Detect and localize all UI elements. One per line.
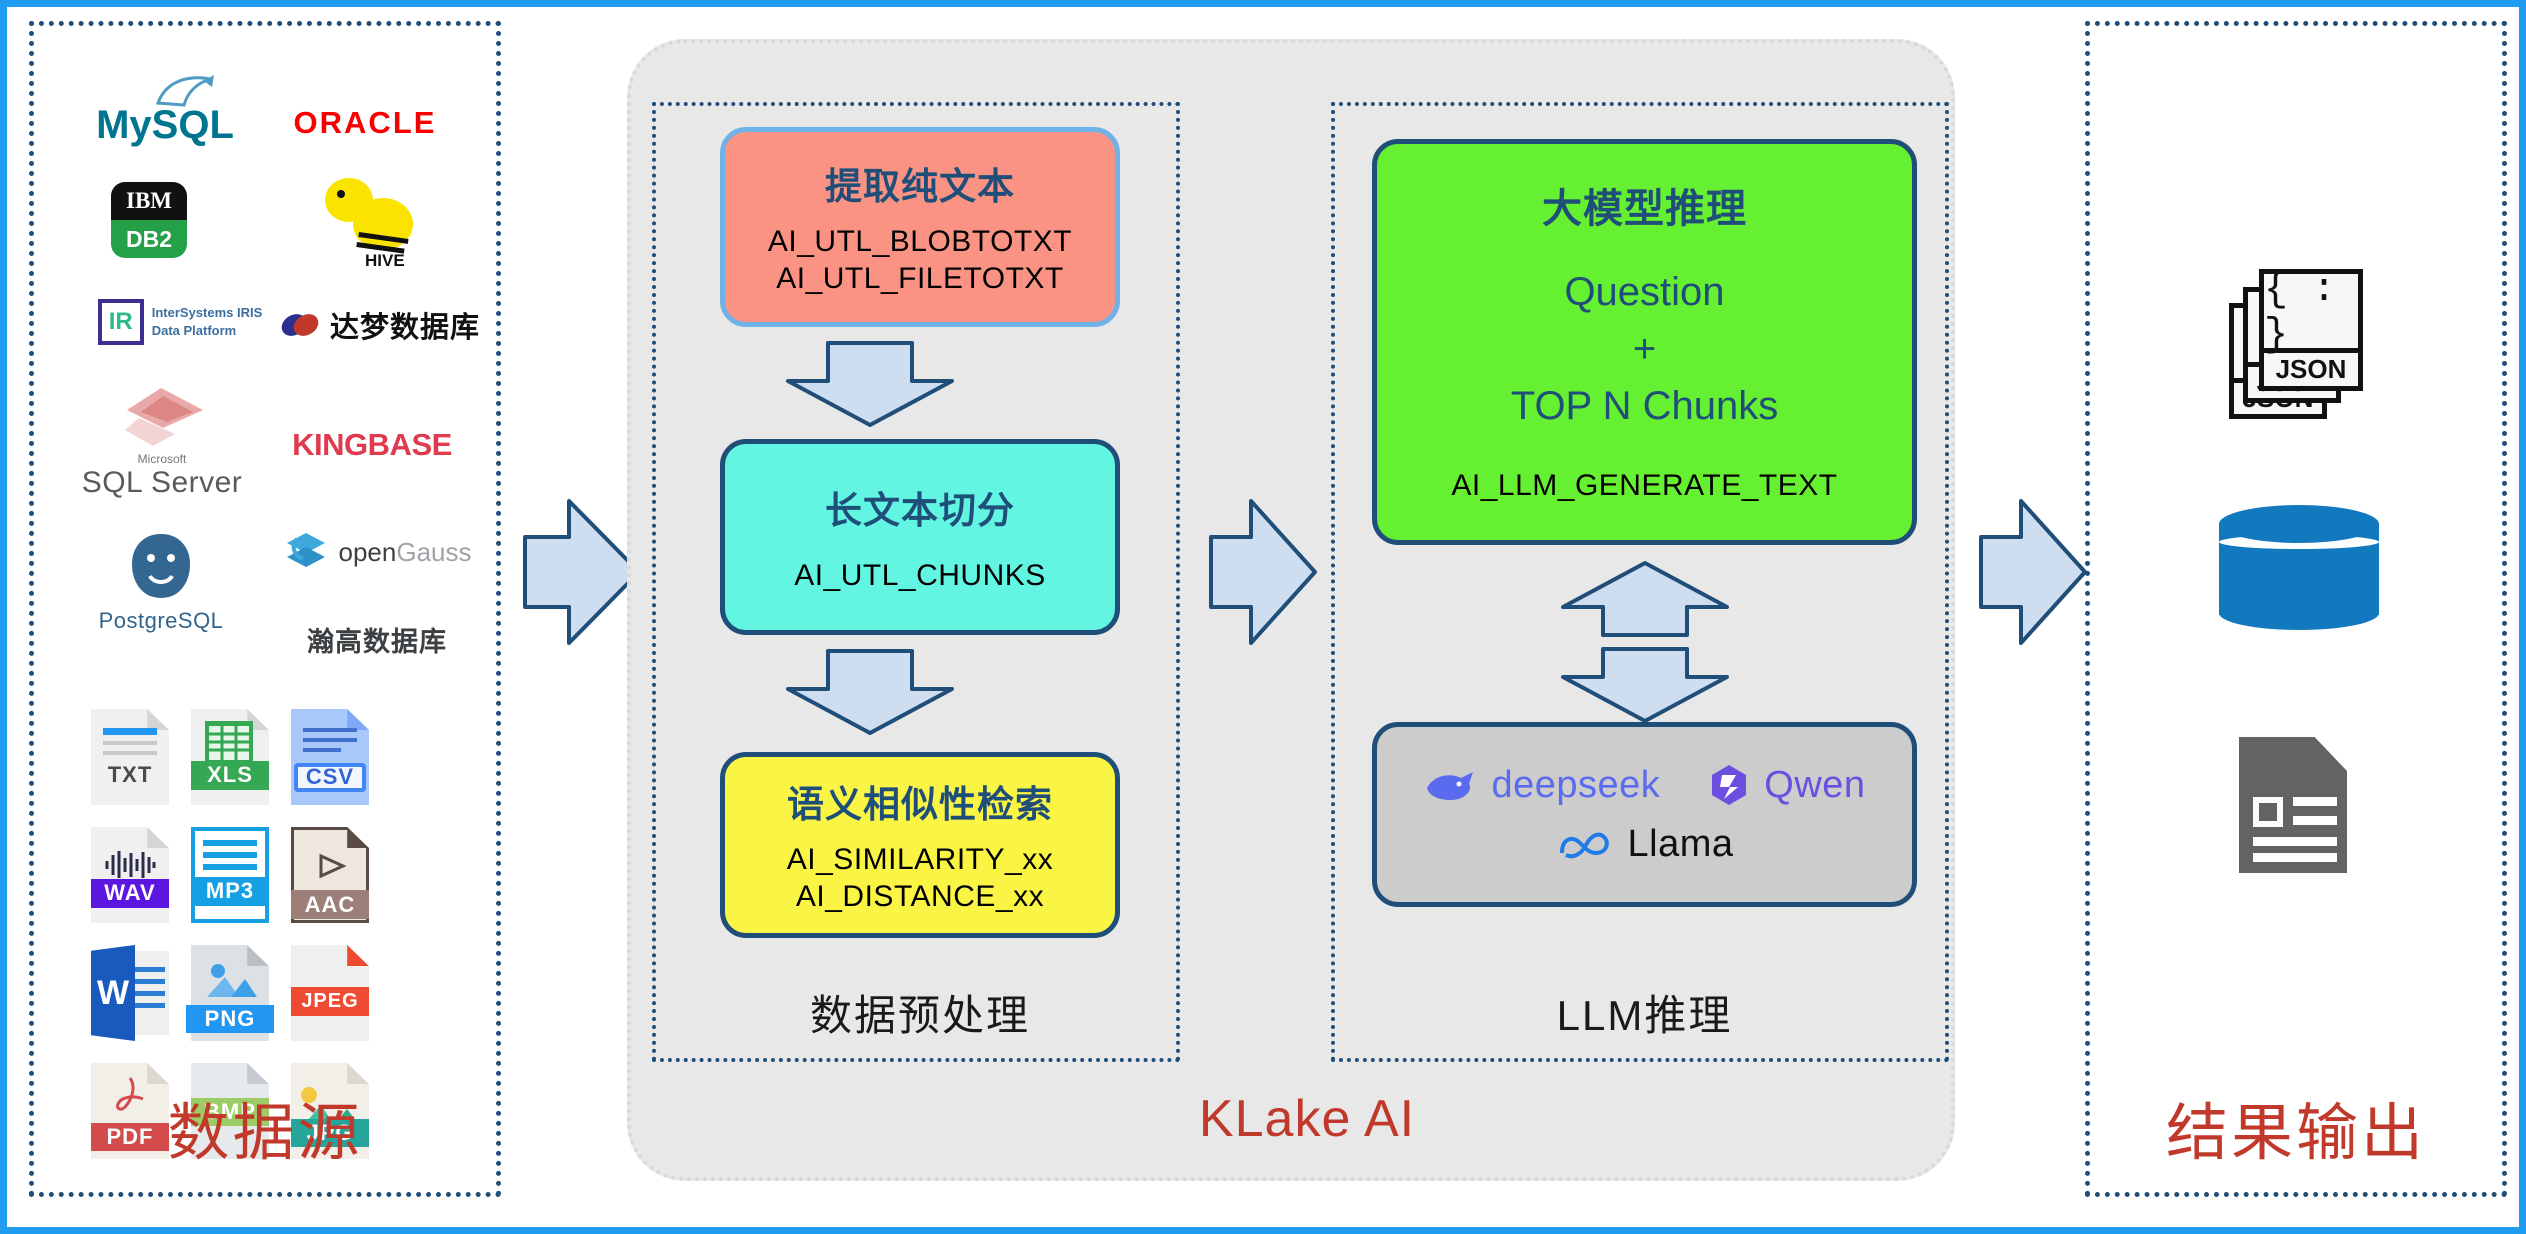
intersystems-iris-logo: IR InterSystems IRIS Data Platform — [65, 287, 295, 357]
data-source-label: 数据源 — [29, 1082, 501, 1172]
csv-label: CSV — [294, 763, 366, 792]
hive-bee-icon: HIVE — [307, 170, 427, 270]
file-icon-csv: CSV — [275, 697, 385, 817]
model-deepseek: deepseek — [1423, 764, 1660, 807]
chunk-title: 长文本切分 — [825, 480, 1015, 534]
json-files-icon: JSON JSON { : } JSON — [2229, 269, 2369, 419]
file-icon-xls: XLS — [175, 697, 285, 817]
extract-title: 提取纯文本 — [825, 156, 1015, 210]
iris-line1: InterSystems IRIS — [152, 304, 263, 322]
stage-long-text-chunking: 长文本切分 AI_UTL_CHUNKS — [720, 439, 1120, 635]
kingbase-logo: KINGBASE — [267, 415, 477, 475]
llm-body-line-2: + — [1511, 321, 1779, 378]
wav-label: WAV — [91, 879, 169, 908]
chunk-fn-1: AI_UTL_CHUNKS — [794, 558, 1046, 595]
extract-fn-2: AI_UTL_FILETOTXT — [768, 261, 1072, 298]
similarity-fn-2: AI_DISTANCE_xx — [787, 879, 1053, 916]
mysql-dolphin-icon — [154, 73, 218, 109]
iris-badge: IR — [98, 299, 144, 345]
file-icon-mp3: MP3 — [175, 815, 285, 935]
stage-semantic-similarity-search: 语义相似性检索 AI_SIMILARITY_xx AI_DISTANCE_xx — [720, 752, 1120, 938]
postgresql-label: PostgreSQL — [99, 608, 224, 634]
svg-text:HIVE: HIVE — [365, 251, 405, 270]
arrow-llm-to-models-down — [1555, 645, 1735, 725]
database-cylinder-icon — [2219, 505, 2379, 630]
hive-logo: HIVE — [277, 165, 457, 275]
oracle-logo: ORACLE — [265, 93, 465, 153]
llm-body-line-3: TOP N Chunks — [1511, 378, 1779, 435]
opengauss-label-a: open — [339, 537, 397, 567]
file-icon-png: PNG — [175, 933, 285, 1053]
ibm-db2-logo: IBM DB2 — [89, 175, 209, 265]
deepseek-whale-icon — [1423, 766, 1479, 804]
qwen-mark-icon — [1706, 763, 1752, 807]
postgresql-elephant-icon — [120, 526, 202, 608]
llama-label: Llama — [1628, 823, 1734, 866]
png-image-icon — [205, 959, 257, 999]
json-brace-glyph: { : } — [2264, 281, 2358, 346]
document-report-icon — [2239, 737, 2347, 873]
wav-waveform-icon — [104, 849, 156, 879]
opengauss-mark-icon — [283, 529, 329, 575]
opengauss-label-b: Gauss — [396, 537, 471, 567]
arrow-klake-to-output — [1973, 497, 2093, 647]
sql-server-vendor: Microsoft — [82, 452, 243, 466]
xls-label: XLS — [191, 761, 269, 790]
dameng-mark-icon — [280, 309, 320, 341]
file-icon-txt: TXT — [75, 697, 185, 817]
llm-caption: LLM推理 — [1372, 982, 1917, 1043]
file-icon-aac: AAC — [275, 815, 385, 935]
dameng-label: 达梦数据库 — [330, 304, 480, 346]
preprocess-caption: 数据预处理 — [720, 982, 1120, 1043]
stage-llm-inference: 大模型推理 Question + TOP N Chunks AI_LLM_GEN… — [1372, 139, 1917, 545]
file-icon-jpeg: JPEG — [275, 933, 385, 1053]
file-icon-wav: WAV — [75, 815, 185, 935]
aac-label: AAC — [291, 890, 369, 919]
oracle-label: ORACLE — [294, 105, 437, 141]
mysql-logo: MySQL — [75, 85, 255, 165]
kingbase-label: KINGBASE — [292, 427, 452, 463]
qwen-label: Qwen — [1764, 764, 1865, 807]
file-icon-word: W — [75, 933, 185, 1053]
sql-server-label: SQL Server — [82, 466, 243, 500]
meta-infinity-icon — [1556, 827, 1616, 863]
arrow-models-to-llm-up — [1555, 559, 1735, 639]
word-label: W — [91, 945, 135, 1041]
ibm-db2-top-label: IBM — [111, 182, 187, 220]
opengauss-logo: openGauss — [271, 517, 483, 587]
mysql-label: MySQL — [96, 103, 234, 148]
iris-line2: Data Platform — [152, 322, 263, 340]
llm-title: 大模型推理 — [1542, 176, 1747, 234]
sql-server-mark-icon — [119, 384, 205, 450]
model-providers-box: deepseek Qwen Llama — [1372, 722, 1917, 907]
sql-server-logo: Microsoft SQL Server — [67, 377, 257, 507]
llm-body-line-1: Question — [1511, 264, 1779, 321]
jpeg-label: JPEG — [291, 987, 369, 1016]
model-qwen: Qwen — [1706, 763, 1865, 807]
mp3-label: MP3 — [191, 877, 269, 906]
model-llama: Llama — [1556, 823, 1734, 866]
klake-ai-title: KLake AI — [1057, 1089, 1557, 1149]
highgo-label: 瀚高数据库 — [307, 620, 447, 659]
png-label: PNG — [186, 1005, 273, 1034]
xls-grid-icon — [205, 721, 253, 765]
arrow-chunk-to-similarity — [780, 647, 960, 737]
aac-play-icon — [317, 853, 347, 879]
deepseek-label: deepseek — [1491, 764, 1660, 807]
ibm-db2-bottom-label: DB2 — [111, 220, 187, 258]
json-label-1: JSON — [2264, 348, 2358, 386]
arrow-extract-to-chunk — [780, 339, 960, 429]
similarity-fn-1: AI_SIMILARITY_xx — [787, 842, 1053, 879]
result-output-label: 结果输出 — [2085, 1082, 2507, 1172]
highgo-logo: 瀚高数据库 — [271, 609, 483, 669]
extract-fn-1: AI_UTL_BLOBTOTXT — [768, 224, 1072, 261]
similarity-title: 语义相似性检索 — [787, 774, 1053, 828]
data-source-logo-grid: MySQL ORACLE IBM DB2 — [47, 47, 483, 1057]
diagram-canvas: MySQL ORACLE IBM DB2 — [0, 0, 2526, 1234]
stage-extract-plain-text: 提取纯文本 AI_UTL_BLOBTOTXT AI_UTL_FILETOTXT — [720, 127, 1120, 327]
dameng-logo: 达梦数据库 — [275, 295, 485, 355]
postgresql-logo: PostgreSQL — [71, 515, 251, 645]
txt-label: TXT — [91, 761, 169, 790]
arrow-preprocess-to-llm — [1203, 497, 1323, 647]
llm-function: AI_LLM_GENERATE_TEXT — [1451, 468, 1837, 505]
